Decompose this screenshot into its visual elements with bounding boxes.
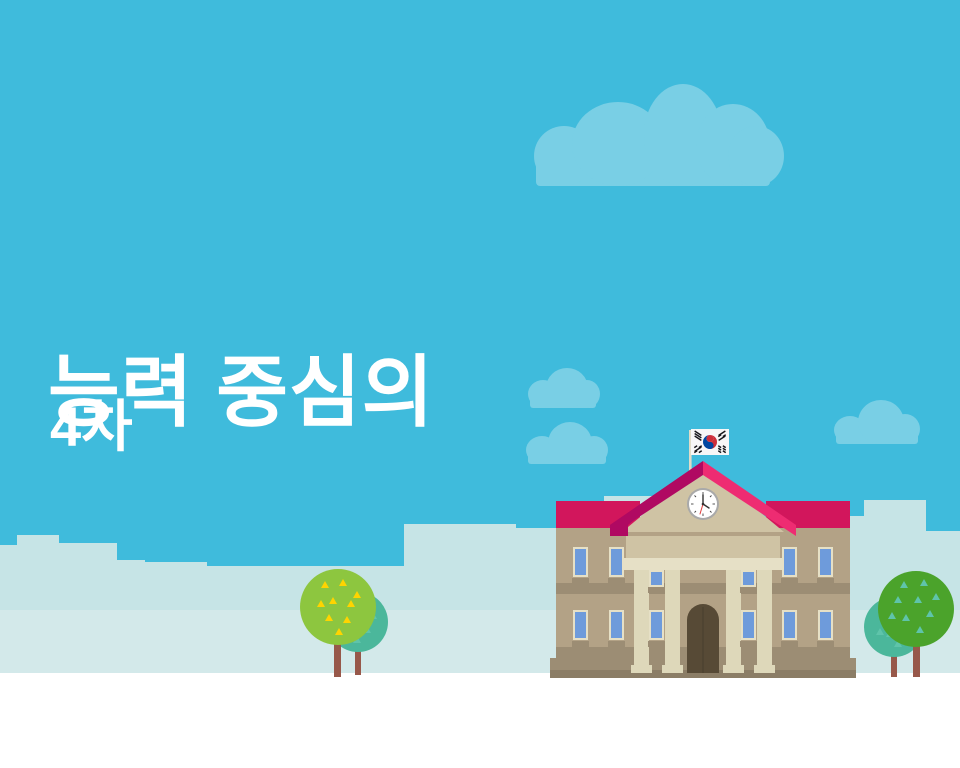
headline-line-2: 고졸취업 문화 활성화 — [48, 669, 928, 768]
headline-line-1: 능력 중심의 — [48, 337, 928, 448]
poster-subtitle: 4차 — [50, 396, 133, 458]
poster-headline: 능력 중심의 고졸취업 문화 활성화 — [48, 115, 928, 768]
poster-canvas: 능력 중심의 고졸취업 문화 활성화 4차 — [0, 0, 960, 768]
